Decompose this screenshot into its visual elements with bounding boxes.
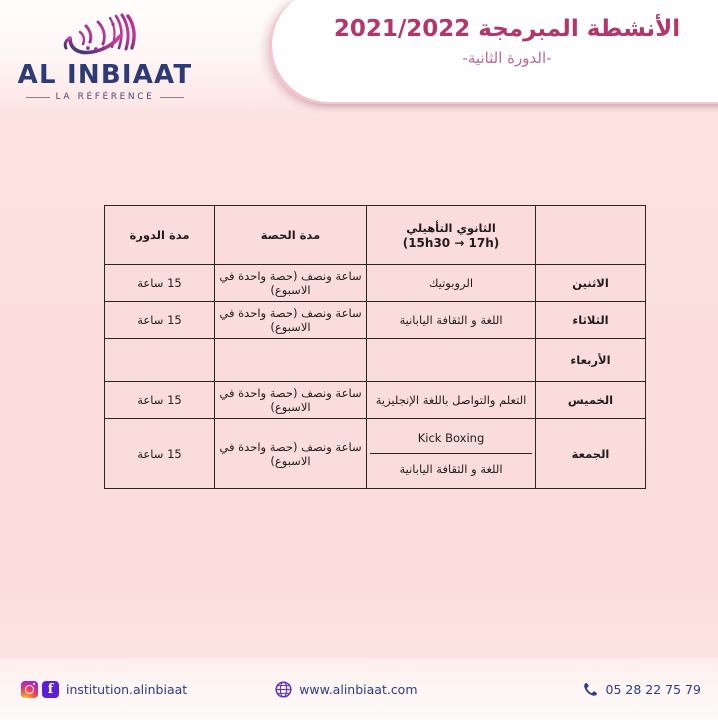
session-cell: ساعة ونصف (حصة واحدة في الاسبوع) (215, 302, 367, 339)
page-subtitle: -الدورة الثانية- (272, 47, 718, 69)
activity-cell-split: Kick Boxing اللغة و الثقافة اليابانية (367, 419, 536, 489)
page-header: الأنشطة المبرمجة 2021/2022 -الدورة الثان… (0, 0, 718, 118)
total-cell: 15 ساعة (105, 382, 215, 419)
table-header-row: الثانوي التأهيلي (15h30 → 17h) مدة الحصة… (105, 206, 646, 265)
header-cell-level: الثانوي التأهيلي (15h30 → 17h) (367, 206, 536, 265)
level-times: (15h30 → 17h) (370, 236, 532, 250)
page-footer: f institution.alinbiaat www.alinbiaat.co… (0, 658, 718, 720)
brand-logo: AL INBIAAT LA RÉFÉRENCE (16, 8, 194, 108)
activity-cell: اللغة و الثقافة اليابانية (370, 454, 532, 485)
total-cell: 15 ساعة (105, 265, 215, 302)
session-cell: ساعة ونصف (حصة واحدة في الاسبوع) (215, 265, 367, 302)
session-cell: ساعة ونصف (حصة واحدة في الاسبوع) (215, 419, 367, 489)
session-cell: ساعة ونصف (حصة واحدة في الاسبوع) (215, 382, 367, 419)
title-pill: الأنشطة المبرمجة 2021/2022 -الدورة الثان… (272, 0, 718, 102)
day-cell: الأربعاء (536, 339, 646, 382)
day-cell: الثلاثاء (536, 302, 646, 339)
schedule-table-wrapper: الثانوي التأهيلي (15h30 → 17h) مدة الحصة… (104, 205, 617, 489)
activity-cell: اللغة و الثقافة اليابانية (367, 302, 536, 339)
day-cell: الجمعة (536, 419, 646, 489)
logo-tagline-group: LA RÉFÉRENCE (16, 92, 194, 102)
footer-website[interactable]: www.alinbiaat.com (275, 681, 417, 698)
schedule-table: الثانوي التأهيلي (15h30 → 17h) مدة الحصة… (104, 205, 646, 489)
activity-subrow: Kick Boxing (370, 423, 532, 454)
phone-icon (582, 681, 599, 698)
social-icons: f (21, 681, 59, 698)
phone-number: 05 28 22 75 79 (606, 682, 701, 697)
session-cell-empty (215, 339, 367, 382)
footer-social[interactable]: f institution.alinbiaat (18, 681, 187, 698)
arabic-calligraphy-icon (16, 8, 194, 62)
page-background: الأنشطة المبرمجة 2021/2022 -الدورة الثان… (0, 0, 718, 720)
page-title: الأنشطة المبرمجة 2021/2022 (272, 14, 718, 44)
rule-left (26, 97, 50, 98)
activity-cell-empty (367, 339, 536, 382)
table-row: الجمعة Kick Boxing اللغة و الثقافة الياب… (105, 419, 646, 489)
globe-icon (275, 681, 292, 698)
logo-tagline: LA RÉFÉRENCE (56, 92, 155, 102)
total-cell-empty (105, 339, 215, 382)
activity-cell: التعلم والتواصل باللغة الإنجليزية (367, 382, 536, 419)
header-cell-total-duration: مدة الدورة (105, 206, 215, 265)
day-cell: الاثنين (536, 265, 646, 302)
facebook-icon[interactable]: f (42, 681, 59, 698)
activity-subtable: Kick Boxing اللغة و الثقافة اليابانية (370, 423, 532, 484)
activity-subrow: اللغة و الثقافة اليابانية (370, 454, 532, 485)
total-cell: 15 ساعة (105, 302, 215, 339)
header-cell-day-blank (536, 206, 646, 265)
day-cell: الخميس (536, 382, 646, 419)
table-row: الاثنين الروبوتيك ساعة ونصف (حصة واحدة ف… (105, 265, 646, 302)
activity-cell: Kick Boxing (370, 423, 532, 454)
table-row: الثلاثاء اللغة و الثقافة اليابانية ساعة … (105, 302, 646, 339)
website-url: www.alinbiaat.com (299, 682, 417, 697)
table-row: الخميس التعلم والتواصل باللغة الإنجليزية… (105, 382, 646, 419)
level-title: الثانوي التأهيلي (406, 221, 496, 235)
social-handle: institution.alinbiaat (66, 682, 187, 697)
table-row-disabled: الأربعاء (105, 339, 646, 382)
logo-name: AL INBIAAT (16, 61, 194, 89)
total-cell: 15 ساعة (105, 419, 215, 489)
footer-phone[interactable]: 05 28 22 75 79 (582, 681, 701, 698)
activity-cell: الروبوتيك (367, 265, 536, 302)
header-cell-session-duration: مدة الحصة (215, 206, 367, 265)
instagram-icon[interactable] (21, 681, 38, 698)
rule-right (160, 97, 184, 98)
